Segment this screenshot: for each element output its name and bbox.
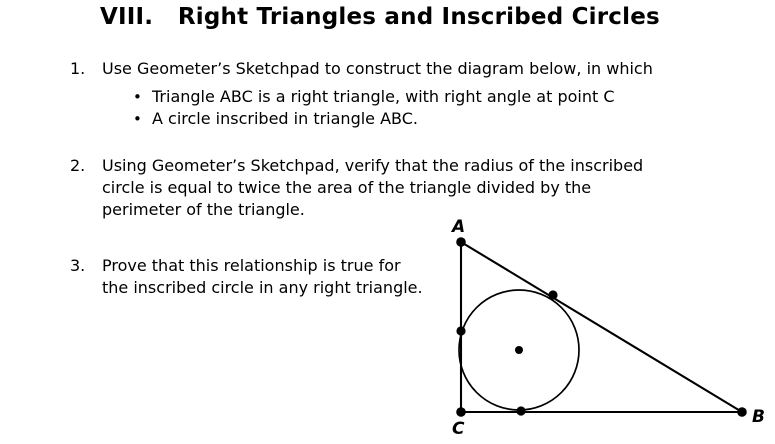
list-item-marker: 1.: [70, 58, 102, 80]
triangle-abc: [461, 242, 742, 412]
incenter-point: [515, 346, 523, 354]
tangent-point-leg-cb: [516, 406, 525, 415]
bullet-icon: •: [133, 108, 152, 130]
vertex-point-c: [456, 407, 466, 417]
list-item-line: Using Geometer’s Sketchpad, verify that …: [102, 155, 643, 177]
list-item-body: Use Geometer’s Sketchpad to construct th…: [102, 58, 653, 80]
vertex-point-a: [456, 237, 466, 247]
bullet-label: Triangle ABC is a right triangle, with r…: [152, 86, 615, 108]
list-item: • Triangle ABC is a right triangle, with…: [133, 86, 615, 108]
vertex-label-b: B: [752, 407, 765, 427]
vertex-label-c: C: [452, 419, 465, 439]
list-item-line: Prove that this relationship is true for: [102, 255, 423, 277]
tangent-point-leg-ac: [456, 326, 465, 335]
worksheet-page: VIII. Right Triangles and Inscribed Circ…: [0, 0, 775, 444]
vertex-label-a: A: [450, 217, 465, 237]
list-item-marker: 2.: [70, 155, 102, 177]
segment-ab: [461, 242, 742, 412]
list-item-body: Prove that this relationship is true for…: [102, 255, 423, 299]
bullet-label: A circle inscribed in triangle ABC.: [152, 108, 418, 130]
list-item-marker: 3.: [70, 255, 102, 277]
vertex-point-b: [737, 407, 747, 417]
list-item: • A circle inscribed in triangle ABC.: [133, 108, 615, 130]
tangent-point-hypotenuse: [548, 290, 557, 299]
list-item: 3. Prove that this relationship is true …: [70, 255, 470, 299]
bullet-icon: •: [133, 86, 152, 108]
list-item: 1. Use Geometer’s Sketchpad to construct…: [70, 58, 710, 80]
list-item-line: the inscribed circle in any right triang…: [102, 277, 423, 299]
geometry-diagram: A B C: [430, 210, 775, 444]
sub-bullet-list: • Triangle ABC is a right triangle, with…: [133, 86, 615, 130]
list-item-line: circle is equal to twice the area of the…: [102, 177, 643, 199]
page-title: VIII. Right Triangles and Inscribed Circ…: [100, 4, 660, 30]
list-item-line: Use Geometer’s Sketchpad to construct th…: [102, 58, 653, 80]
